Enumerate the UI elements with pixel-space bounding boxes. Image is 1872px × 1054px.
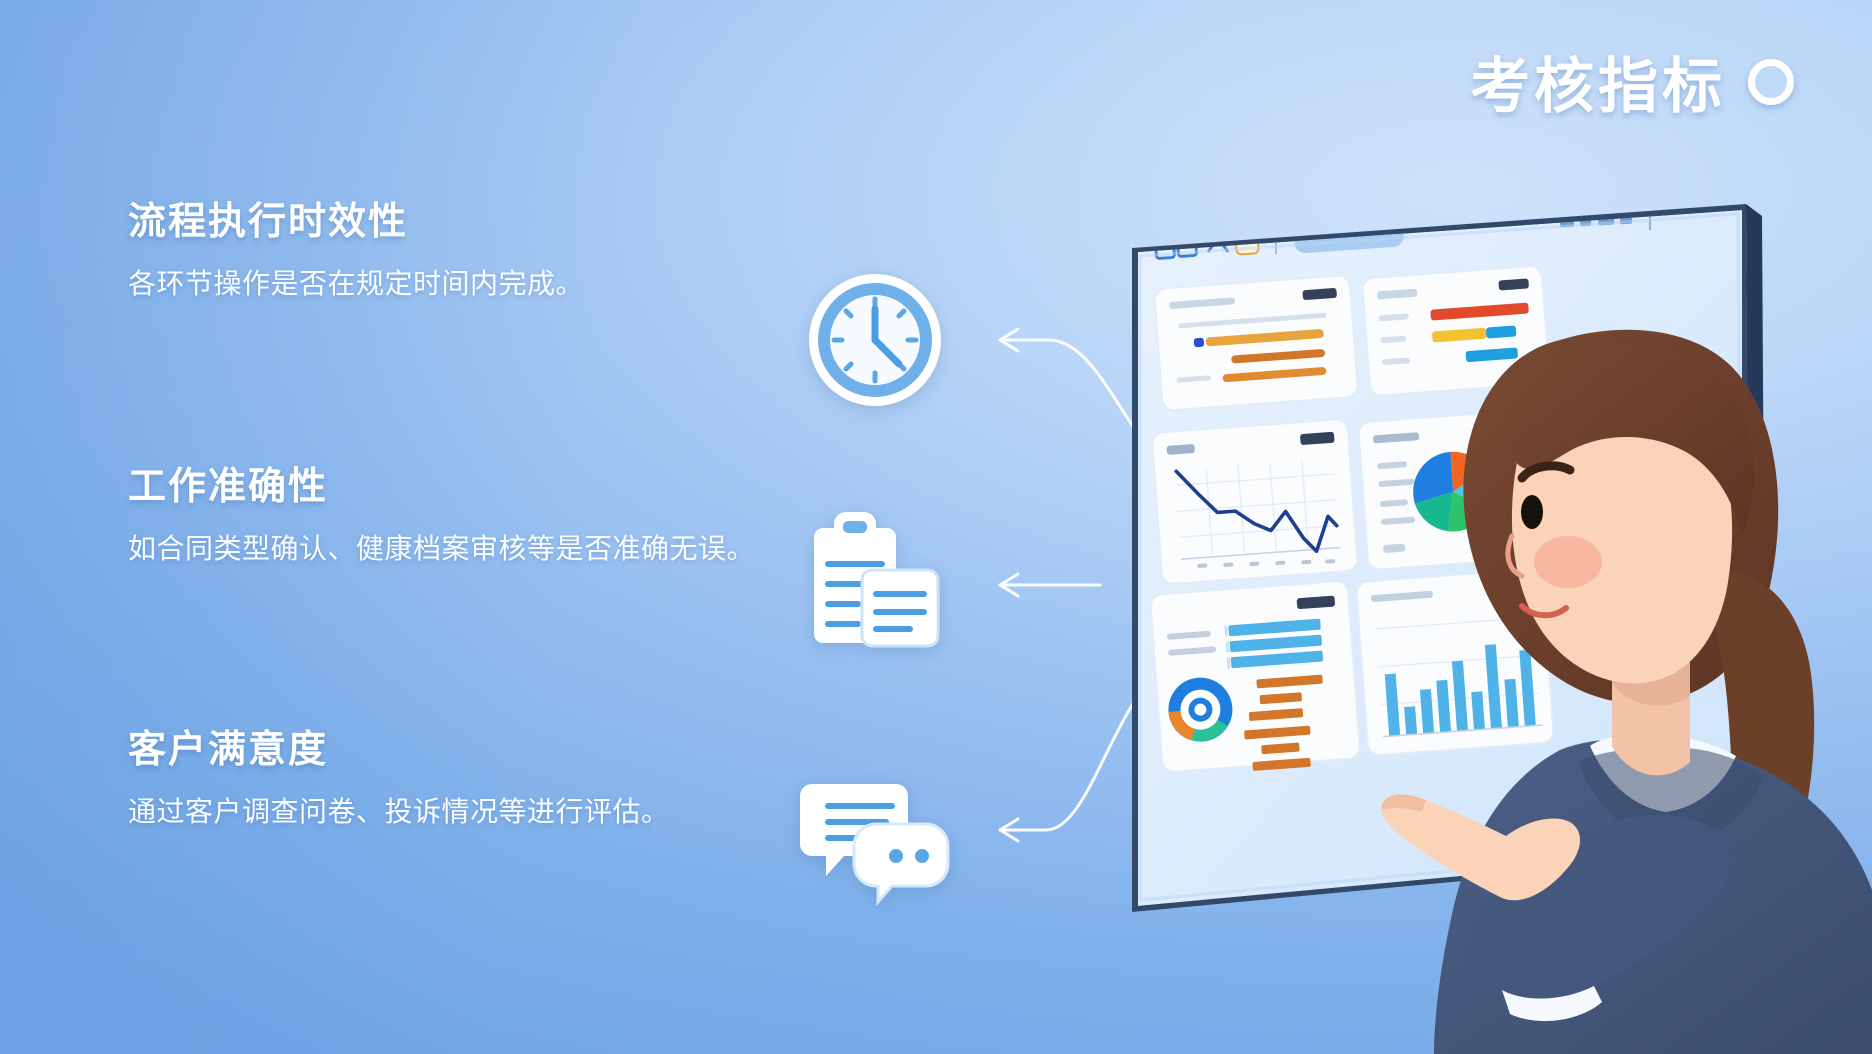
indicator-heading: 客户满意度 — [128, 718, 828, 773]
horizontal-bars-blue — [1224, 619, 1323, 669]
arrow-head-1 — [1000, 329, 1018, 351]
indicator-description: 通过客户调查问卷、投诉情况等进行评估。 — [128, 791, 788, 833]
card-trend-line — [1151, 419, 1358, 585]
circle-outline-icon — [1748, 59, 1794, 105]
cheek-blush — [1534, 536, 1602, 588]
indicator-block-accuracy: 工作准确性 如合同类型确认、健康档案审核等是否准确无误。 — [128, 455, 828, 570]
clipboard-document-icon — [800, 508, 950, 658]
infographic-slide: 考核指标 流程执行时效性 各环节操作是否在规定时间内完成。 工作准确性 如合同类… — [0, 0, 1872, 1054]
indicator-block-satisfaction: 客户满意度 通过客户调查问卷、投诉情况等进行评估。 — [128, 718, 828, 833]
page-title: 考核指标 — [1470, 38, 1794, 125]
page-title-text: 考核指标 — [1470, 38, 1726, 125]
indicator-description: 各环节操作是否在规定时间内完成。 — [128, 263, 788, 305]
chat-bubbles-icon — [800, 762, 950, 912]
indicator-heading: 流程执行时效性 — [128, 190, 828, 245]
indicator-description: 如合同类型确认、健康档案审核等是否准确无误。 — [128, 528, 788, 570]
clock-icon — [800, 265, 950, 415]
indicator-heading: 工作准确性 — [128, 455, 828, 510]
arrow-head-2 — [1000, 574, 1018, 596]
arrow-head-3 — [1000, 819, 1018, 841]
card-progress-bars — [1154, 275, 1358, 411]
indicator-block-timeliness: 流程执行时效性 各环节操作是否在规定时间内完成。 — [128, 190, 828, 305]
card-donut-bars — [1150, 581, 1361, 778]
dashboard-illustration — [1130, 190, 1872, 1054]
eye — [1521, 495, 1543, 529]
